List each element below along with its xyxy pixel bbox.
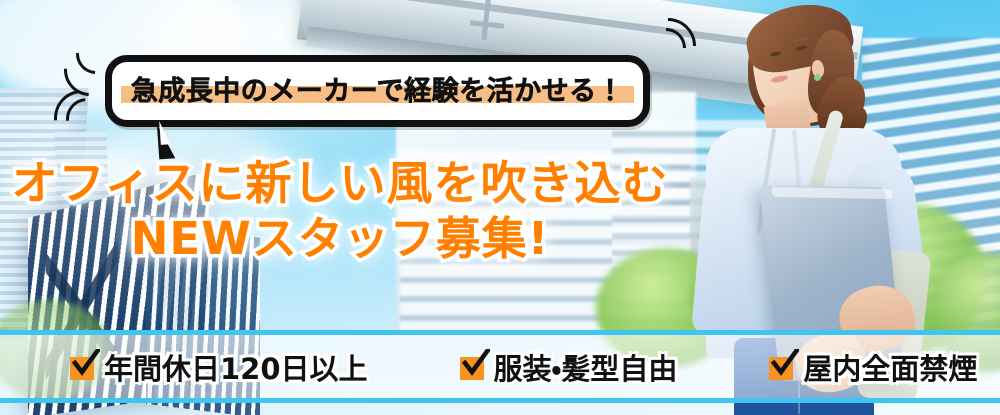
- speech-bubble-body: 急成長中のメーカーで経験を活かせる！: [105, 55, 650, 127]
- benefit-item-no-smoking: 屋内全面禁煙: [769, 346, 977, 388]
- checkbox-check-icon: [70, 353, 97, 380]
- benefit-label: 服装・髪型自由: [494, 346, 678, 388]
- laptop-edge: [771, 187, 893, 199]
- earring-icon: [814, 74, 821, 81]
- checkbox-check-icon: [769, 353, 796, 380]
- benefits-band: 年間休日120日以上 服装・髪型自由: [0, 330, 1000, 403]
- recruitment-banner: 急成長中のメーカーで経験を活かせる！ オフィスに新しい風を吹き込む NEWスタッ…: [0, 0, 1000, 415]
- speech-bubble-tail-inner: [159, 119, 187, 145]
- benefit-label: 屋内全面禁煙: [803, 346, 977, 388]
- checkbox-check-icon: [460, 353, 487, 380]
- speech-bubble-text: 急成長中のメーカーで経験を活かせる！: [131, 76, 624, 107]
- benefit-item-dress-code: 服装・髪型自由: [460, 346, 678, 388]
- benefit-item-holidays: 年間休日120日以上: [70, 346, 368, 388]
- speech-bubble: 急成長中のメーカーで経験を活かせる！: [100, 50, 660, 140]
- benefit-label: 年間休日120日以上: [104, 346, 368, 388]
